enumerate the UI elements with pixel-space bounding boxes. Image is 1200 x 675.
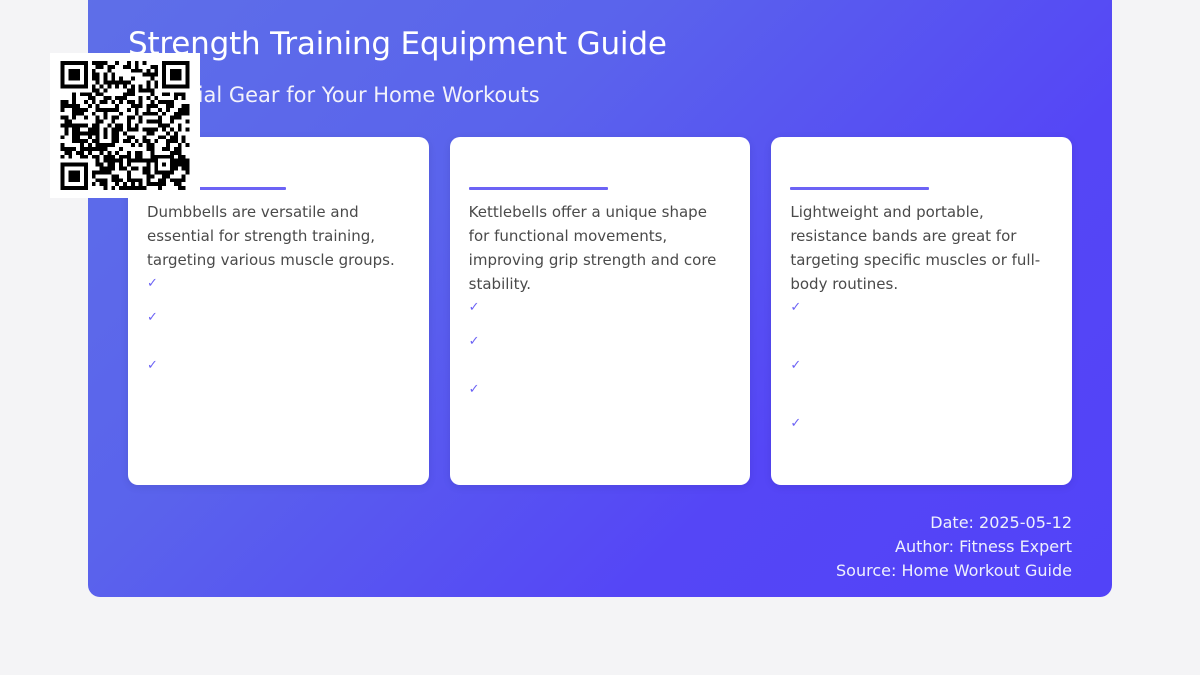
list-item: ✓ <box>790 354 1053 378</box>
equipment-card[interactable]: Kettlebells offer a unique shape for fun… <box>450 137 751 485</box>
check-icon: ✓ <box>147 306 158 330</box>
list-item: ✓ <box>147 306 410 330</box>
card-feature-list: ✓ ✓ ✓ <box>790 296 1053 436</box>
check-icon: ✓ <box>147 354 158 378</box>
footer-date: Date: 2025-05-12 <box>128 511 1072 535</box>
check-icon: ✓ <box>790 354 801 378</box>
check-icon: ✓ <box>469 296 480 320</box>
footer-author: Author: Fitness Expert <box>128 535 1072 559</box>
card-feature-list: ✓ ✓ ✓ <box>147 272 410 378</box>
list-item: ✓ <box>147 354 410 378</box>
list-item: ✓ <box>469 330 732 354</box>
list-item: ✓ <box>790 412 1053 436</box>
list-item: ✓ <box>469 378 732 402</box>
qr-code-overlay[interactable] <box>50 53 200 198</box>
content-panel: Strength Training Equipment Guide Essent… <box>88 0 1112 597</box>
screenshot-root: Strength Training Equipment Guide Essent… <box>0 0 1200 675</box>
qr-code-icon <box>58 61 192 190</box>
card-description: Lightweight and portable, resistance ban… <box>790 200 1053 296</box>
card-description: Dumbbells are versatile and essential fo… <box>147 200 410 272</box>
check-icon: ✓ <box>790 412 801 436</box>
check-icon: ✓ <box>790 296 801 320</box>
check-icon: ✓ <box>469 330 480 354</box>
list-item: ✓ <box>147 272 410 296</box>
card-title <box>469 163 732 185</box>
page-subtitle: Essential Gear for Your Home Workouts <box>128 83 1072 108</box>
equipment-card[interactable]: Lightweight and portable, resistance ban… <box>771 137 1072 485</box>
list-item: ✓ <box>790 296 1053 320</box>
page-title: Strength Training Equipment Guide <box>128 26 1072 63</box>
panel-header: Strength Training Equipment Guide Essent… <box>108 0 1092 108</box>
card-accent-bar <box>469 187 608 190</box>
list-item: ✓ <box>469 296 732 320</box>
card-accent-bar <box>790 187 929 190</box>
check-icon: ✓ <box>469 378 480 402</box>
footer-source: Source: Home Workout Guide <box>128 559 1072 583</box>
card-description: Kettlebells offer a unique shape for fun… <box>469 200 732 296</box>
card-feature-list: ✓ ✓ ✓ <box>469 296 732 402</box>
panel-footer: Date: 2025-05-12 Author: Fitness Expert … <box>108 511 1092 583</box>
card-title <box>790 163 1053 185</box>
equipment-card-list: Dumbbells are versatile and essential fo… <box>108 137 1092 485</box>
check-icon: ✓ <box>147 272 158 296</box>
